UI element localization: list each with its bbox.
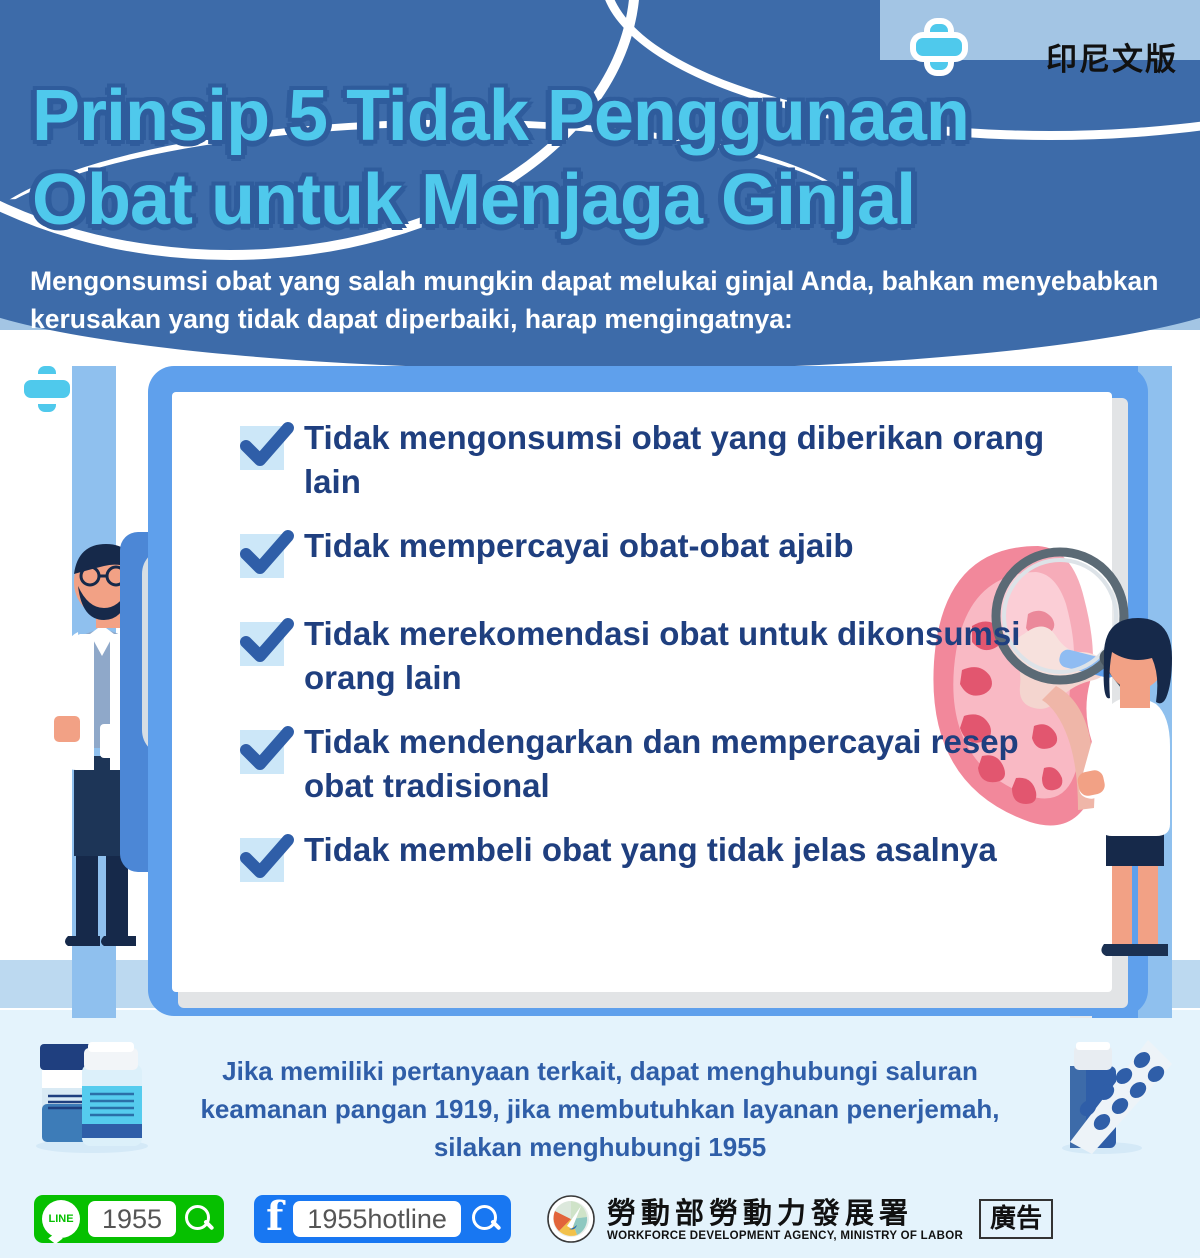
check-icon xyxy=(240,426,284,470)
infographic-poster: 印尼文版 Prinsip 5 Tidak Penggunaan Obat unt… xyxy=(0,0,1200,1258)
line-icon: LINE xyxy=(42,1200,80,1238)
pill-blister-illustration xyxy=(1040,1030,1180,1160)
check-icon xyxy=(240,838,284,882)
check-icon xyxy=(240,534,284,578)
agency-name-en: WORKFORCE DEVELOPMENT AGENCY, MINISTRY O… xyxy=(607,1230,963,1242)
bottom-bar: LINE 1955 f 1955hotline 勞動部勞動力發展署 xyxy=(0,1180,1200,1258)
medical-cross-icon xyxy=(24,366,70,412)
line-contact-badge[interactable]: LINE 1955 xyxy=(34,1195,224,1243)
page-title: Prinsip 5 Tidak Penggunaan Obat untuk Me… xyxy=(32,74,1172,242)
list-item-label: Tidak mendengarkan dan mempercayai resep… xyxy=(304,716,1070,808)
title-line-1: Prinsip 5 Tidak Penggunaan xyxy=(32,76,969,156)
contact-text: Jika memiliki pertanyaan terkait, dapat … xyxy=(170,1052,1030,1166)
magnifier-icon[interactable] xyxy=(471,1204,501,1234)
ad-label: 廣告 xyxy=(979,1199,1053,1239)
subtitle: Mengonsumsi obat yang salah mungkin dapa… xyxy=(30,262,1180,338)
magnifier-icon[interactable] xyxy=(184,1204,214,1234)
list-item-label: Tidak merekomendasi obat untuk dikonsums… xyxy=(304,608,1070,700)
facebook-icon: f xyxy=(266,1197,283,1241)
list-item-label: Tidak membeli obat yang tidak jelas asal… xyxy=(304,824,997,872)
list-item: Tidak membeli obat yang tidak jelas asal… xyxy=(240,824,1070,896)
facebook-contact-badge[interactable]: f 1955hotline xyxy=(254,1195,511,1243)
facebook-page-value: 1955hotline xyxy=(293,1201,461,1237)
female-doctor-illustration xyxy=(1076,608,1186,968)
medical-cross-icon xyxy=(916,24,962,70)
line-id-value: 1955 xyxy=(88,1201,176,1237)
medicine-bottles-illustration xyxy=(22,1034,162,1154)
agency-names: 勞動部勞動力發展署 WORKFORCE DEVELOPMENT AGENCY, … xyxy=(607,1197,963,1242)
agency-block: 勞動部勞動力發展署 WORKFORCE DEVELOPMENT AGENCY, … xyxy=(547,1195,963,1243)
list-item: Tidak merekomendasi obat untuk dikonsums… xyxy=(240,608,1070,700)
list-item-label: Tidak mempercayai obat-obat ajaib xyxy=(304,520,854,568)
check-icon xyxy=(240,622,284,666)
checklist: Tidak mengonsumsi obat yang diberikan or… xyxy=(240,412,1070,912)
agency-name-zh: 勞動部勞動力發展署 xyxy=(607,1197,963,1229)
list-item: Tidak mempercayai obat-obat ajaib xyxy=(240,520,1070,592)
language-badge: 印尼文版 xyxy=(1046,34,1178,79)
title-line-2: Obat untuk Menjaga Ginjal xyxy=(32,158,1172,242)
list-item-label: Tidak mengonsumsi obat yang diberikan or… xyxy=(304,412,1070,504)
list-item: Tidak mengonsumsi obat yang diberikan or… xyxy=(240,412,1070,504)
agency-seal-icon xyxy=(547,1195,595,1243)
list-item: Tidak mendengarkan dan mempercayai resep… xyxy=(240,716,1070,808)
check-icon xyxy=(240,730,284,774)
